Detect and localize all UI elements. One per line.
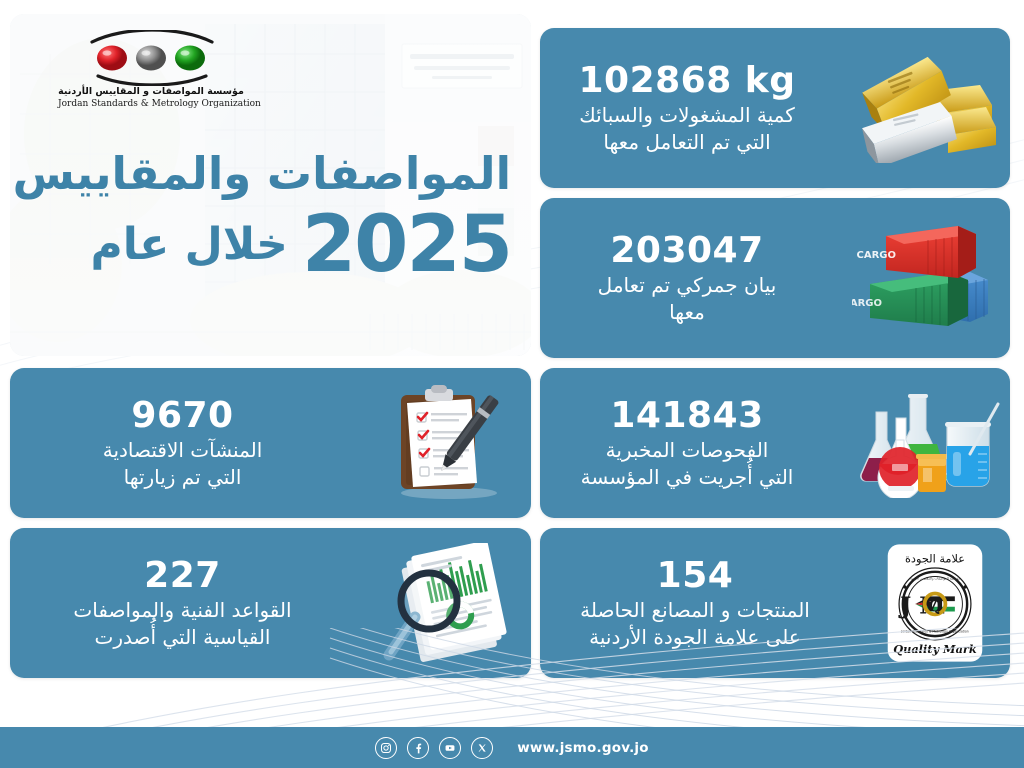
clipboard-checklist-pen-icon [365, 368, 531, 518]
logo-name-arabic: مؤسسة المواصفات و المقاييس الأردنية [58, 86, 244, 98]
header-title-block: المواصفات والمقاييس 2025 خلال عام [26, 146, 511, 286]
header-panel: مؤسسة المواصفات و المقاييس الأردنية Jord… [10, 14, 531, 356]
stat-card-standards-text: 227 القواعد الفنية والمواصفات القياسية ا… [10, 555, 365, 651]
stat-card-gold[interactable]: 102868 kg كمية المشغولات والسبائك التي ت… [540, 28, 1010, 188]
stat-value: 154 [546, 555, 844, 597]
facebook-icon[interactable] [407, 737, 429, 759]
stat-label-line1: القواعد الفنية والمواصفات [16, 597, 349, 624]
stat-card-gold-text: 102868 kg كمية المشغولات والسبائك التي ت… [540, 60, 844, 156]
stat-label-line2: التي تم التعامل معها [546, 129, 828, 156]
gold-silver-bars-icon [844, 28, 1010, 188]
svg-text:CARGO: CARGO [857, 250, 897, 261]
website-url[interactable]: www.jsmo.gov.jo [517, 740, 648, 756]
stat-label-line1: المنتجات و المصانع الحاصلة [546, 597, 844, 624]
stat-card-customs-text: 203047 بيان جمركي تم تعامل معها [540, 230, 844, 326]
stat-label-line1: بيان جمركي تم تعامل [546, 272, 828, 299]
stat-label-line2: معها [546, 299, 828, 326]
jordan-quality-mark-icon: علامة الجودة مؤسسة المواصفات والمقاييس ا… [860, 528, 1010, 678]
stat-card-standards[interactable]: 227 القواعد الفنية والمواصفات القياسية ا… [10, 528, 531, 678]
stat-label-line2: على علامة الجودة الأردنية [546, 624, 844, 651]
instagram-icon[interactable] [375, 737, 397, 759]
svg-text:J: J [898, 591, 911, 619]
jsmo-logo-icon [76, 30, 226, 86]
stat-value: 102868 kg [546, 60, 828, 102]
logo-name-english: Jordan Standards & Metrology Organizatio… [58, 98, 244, 110]
stat-card-visits[interactable]: 9670 المنشآت الاقتصادية التي تم زيارتها [10, 368, 531, 518]
stat-card-quality-text: 154 المنتجات و المصانع الحاصلة على علامة… [540, 555, 860, 651]
stat-label-line2: التي أُجريت في المؤسسة [546, 464, 828, 491]
stat-value: 9670 [16, 395, 349, 437]
footer-bar: www.jsmo.gov.jo [0, 727, 1024, 768]
stat-card-lab[interactable]: 141843 الفحوصات المخبرية التي أُجريت في … [540, 368, 1010, 518]
stat-label-line2: القياسية التي أُصدرت [16, 624, 349, 651]
page-subtitle-row: 2025 خلال عام [26, 204, 511, 286]
svg-text:Q: Q [928, 597, 942, 616]
stat-label-line1: المنشآت الاقتصادية [16, 437, 349, 464]
svg-text:Jordan Standards & Metrology O: Jordan Standards & Metrology Organizatio… [900, 629, 968, 633]
title-subtitle: خلال عام [90, 216, 287, 274]
jsmo-logo: مؤسسة المواصفات و المقاييس الأردنية Jord… [58, 30, 244, 134]
stat-card-lab-text: 141843 الفحوصات المخبرية التي أُجريت في … [540, 395, 844, 491]
cargo-containers-icon: CARGO CARGO [844, 198, 1010, 358]
svg-text:Quality Mark: Quality Mark [893, 642, 977, 656]
infographic-page: مؤسسة المواصفات و المقاييس الأردنية Jord… [0, 0, 1024, 768]
stat-card-customs[interactable]: CARGO CARGO 203047 بيان جمركي تم تعامل م… [540, 198, 1010, 358]
stat-card-quality[interactable]: علامة الجودة مؤسسة المواصفات والمقاييس ا… [540, 528, 1010, 678]
svg-text:مؤسسة المواصفات والمقاييس الأر: مؤسسة المواصفات والمقاييس الأردنية [910, 576, 960, 580]
youtube-icon[interactable] [439, 737, 461, 759]
stat-value: 227 [16, 555, 349, 597]
svg-text:علامة الجودة: علامة الجودة [905, 551, 965, 566]
stat-label-line1: الفحوصات المخبرية [546, 437, 828, 464]
stat-value: 141843 [546, 395, 828, 437]
stat-label-line1: كمية المشغولات والسبائك [546, 102, 828, 129]
stat-label-line2: التي تم زيارتها [16, 464, 349, 491]
title-year: 2025 [302, 204, 511, 286]
laboratory-flasks-icon [844, 368, 1010, 518]
magnifier-documents-icon [365, 528, 531, 678]
stat-card-visits-text: 9670 المنشآت الاقتصادية التي تم زيارتها [10, 395, 365, 491]
svg-text:CARGO: CARGO [852, 298, 882, 309]
page-title: المواصفات والمقاييس [26, 146, 511, 202]
stat-value: 203047 [546, 230, 828, 272]
x-twitter-icon[interactable] [471, 737, 493, 759]
